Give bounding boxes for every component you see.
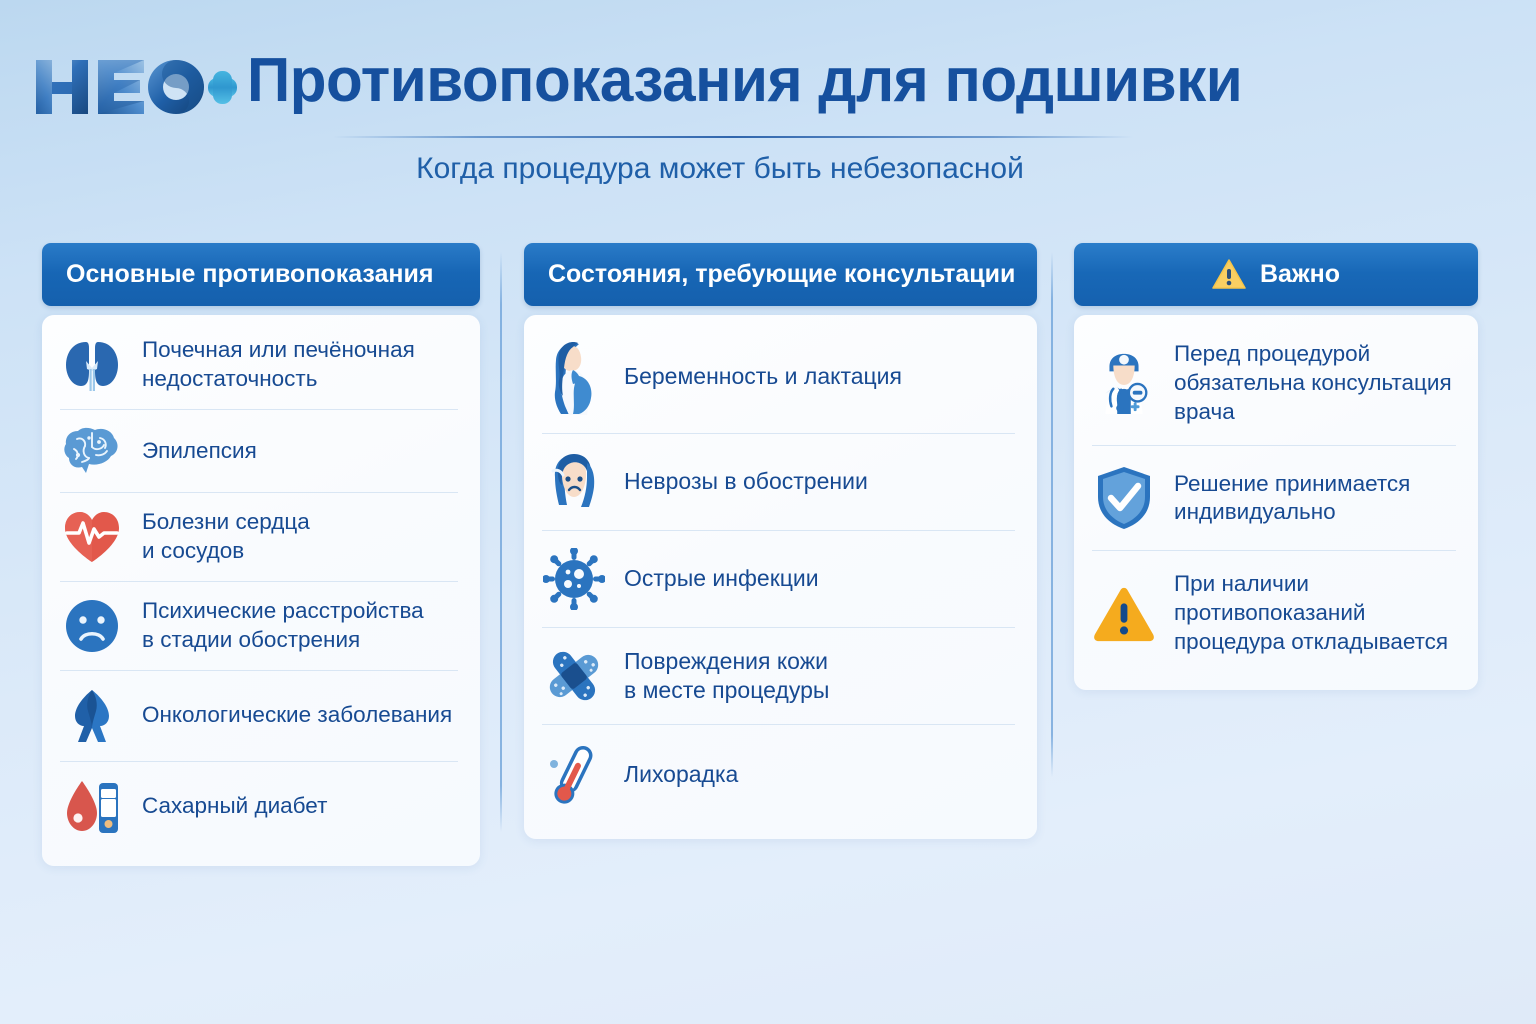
list-item-label: Эпилепсия bbox=[142, 437, 257, 466]
warning-triangle-icon bbox=[1092, 584, 1156, 644]
card-body-important: Перед процедурой обязательна консультаци… bbox=[1074, 315, 1478, 690]
list-item[interactable]: Психические расстройства в стадии обостр… bbox=[60, 581, 458, 670]
list-item-label: Болезни сердца и сосудов bbox=[142, 508, 310, 566]
list-item-label: Беременность и лактация bbox=[624, 362, 902, 391]
list-item[interactable]: Неврозы в обострении bbox=[542, 433, 1015, 530]
heart-pulse-icon bbox=[60, 509, 124, 565]
list-item[interactable]: Сахарный диабет bbox=[60, 761, 458, 852]
list-item[interactable]: Перед процедурой обязательна консультаци… bbox=[1092, 321, 1456, 445]
pregnant-woman-icon bbox=[542, 338, 606, 416]
card-header-label: Основные противопоказания bbox=[66, 260, 433, 289]
card-header-label: Важно bbox=[1260, 260, 1340, 289]
list-item-label: Лихорадка bbox=[624, 760, 738, 789]
card-important: Важно bbox=[1074, 243, 1478, 690]
list-item-label: Психические расстройства в стадии обостр… bbox=[142, 597, 424, 655]
virus-icon bbox=[542, 548, 606, 610]
card-header-important: Важно bbox=[1074, 243, 1478, 306]
kidneys-icon bbox=[60, 336, 124, 394]
list-item[interactable]: Повреждения кожи в месте процедуры bbox=[542, 627, 1015, 724]
brain-icon bbox=[60, 425, 124, 477]
list-item-label: Онкологические заболевания bbox=[142, 701, 452, 730]
sad-face-icon bbox=[60, 597, 124, 655]
list-item[interactable]: Эпилепсия bbox=[60, 409, 458, 492]
list-item[interactable]: Решение принимается индивидуально bbox=[1092, 445, 1456, 550]
content-columns: Основные противопоказания Почечная или п… bbox=[0, 0, 1536, 1024]
card-header-conditions: Состояния, требующие консультации bbox=[524, 243, 1037, 306]
warning-triangle-icon bbox=[1212, 259, 1246, 290]
bandage-icon bbox=[542, 645, 606, 707]
list-item[interactable]: При наличии противопоказаний процедура о… bbox=[1092, 550, 1456, 675]
list-item-label: Перед процедурой обязательна консультаци… bbox=[1174, 340, 1452, 426]
awareness-ribbon-icon bbox=[60, 686, 124, 746]
list-item[interactable]: Лихорадка bbox=[542, 724, 1015, 825]
list-item-label: Повреждения кожи в месте процедуры bbox=[624, 647, 829, 706]
card-body-main-contraindications: Почечная или печёночная недостаточность bbox=[42, 315, 480, 866]
card-body-conditions: Беременность и лактация Неврозы в bbox=[524, 315, 1037, 839]
card-header-main-contraindications: Основные противопоказания bbox=[42, 243, 480, 306]
list-item[interactable]: Почечная или печёночная недостаточность bbox=[60, 321, 458, 409]
card-main-contraindications: Основные противопоказания Почечная или п… bbox=[42, 243, 480, 866]
list-item[interactable]: Болезни сердца и сосудов bbox=[60, 492, 458, 581]
list-item-label: Почечная или печёночная недостаточность bbox=[142, 336, 415, 394]
list-item-label: Сахарный диабет bbox=[142, 792, 327, 821]
list-item-label: Решение принимается индивидуально bbox=[1174, 470, 1410, 528]
shield-check-icon bbox=[1092, 465, 1156, 531]
blood-drop-glucometer-icon bbox=[60, 777, 124, 837]
list-item-label: При наличии противопоказаний процедура о… bbox=[1174, 570, 1448, 656]
list-item-label: Неврозы в обострении bbox=[624, 467, 868, 496]
list-item[interactable]: Острые инфекции bbox=[542, 530, 1015, 627]
list-item-label: Острые инфекции bbox=[624, 564, 819, 593]
list-item[interactable]: Беременность и лактация bbox=[542, 321, 1015, 433]
doctor-icon bbox=[1092, 349, 1156, 417]
list-item[interactable]: Онкологические заболевания bbox=[60, 670, 458, 761]
thermometer-icon bbox=[542, 742, 606, 808]
card-header-label: Состояния, требующие консультации bbox=[548, 260, 1015, 289]
card-conditions-requiring-consultation: Состояния, требующие консультации Береме… bbox=[524, 243, 1037, 839]
stressed-woman-icon bbox=[542, 451, 606, 513]
